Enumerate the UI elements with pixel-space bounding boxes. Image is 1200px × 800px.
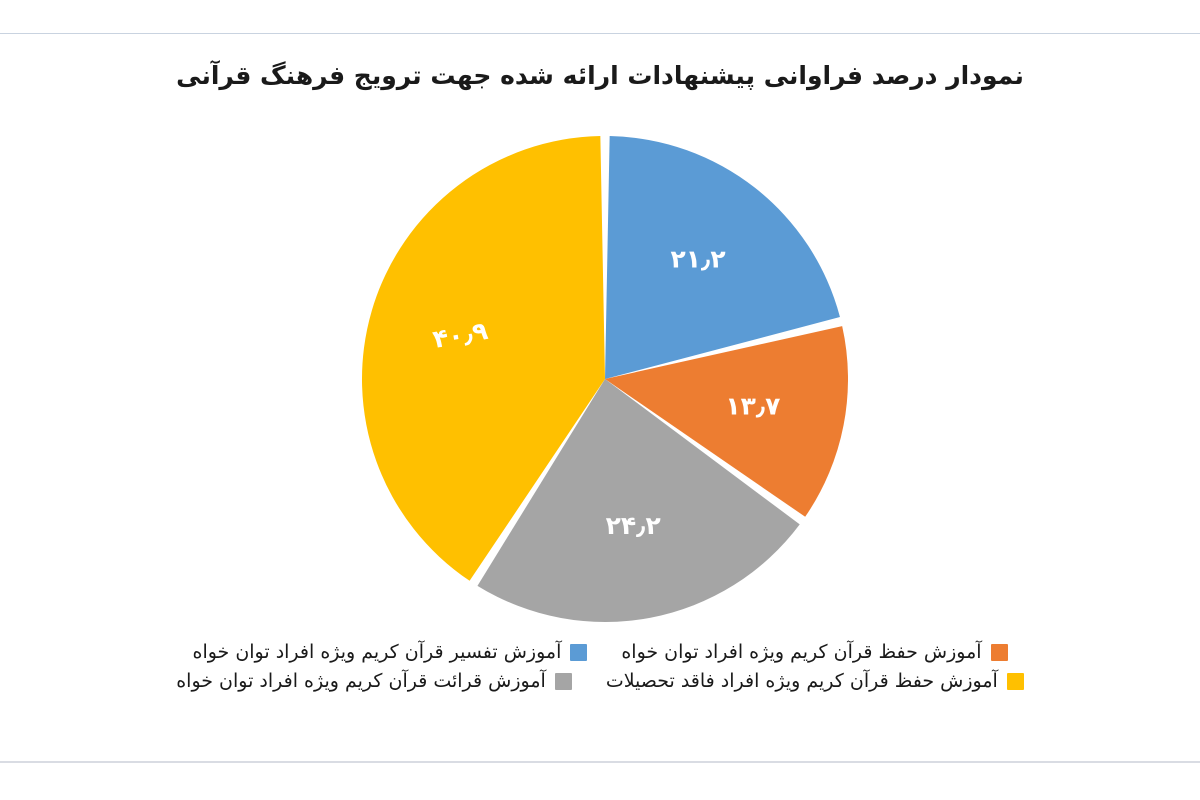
legend-color-swatch — [991, 644, 1008, 661]
legend-color-swatch — [1007, 673, 1024, 690]
pie-slice-value-label: ۲۱٫۲ — [671, 245, 726, 274]
chart-legend: آموزش حفظ قرآن کریم ویژه افراد توان خواه… — [0, 642, 1200, 692]
legend-color-swatch — [555, 673, 572, 690]
pie-graphic: ۲۱٫۲۱۳٫۷۲۴٫۲۴۰٫۹ — [355, 129, 855, 629]
pie-slice-value-label: ۲۴٫۲ — [606, 511, 661, 540]
legend-row: آموزش حفظ قرآن کریم ویژه افراد فاقد تحصی… — [176, 671, 1024, 692]
legend-color-swatch — [570, 644, 587, 661]
legend-item-gheraat-tavankhah[interactable]: آموزش قرائت قرآن کریم ویژه افراد توان خو… — [176, 671, 572, 692]
chart-page: نمودار درصد فراوانی پیشنهادات ارائه شده … — [0, 0, 1200, 800]
legend-item-hefz-faghed-tahsilat[interactable]: آموزش حفظ قرآن کریم ویژه افراد فاقد تحصی… — [606, 671, 1024, 692]
legend-item-hefz-tavankhah[interactable]: آموزش حفظ قرآن کریم ویژه افراد توان خواه — [621, 642, 1007, 663]
pie-slice-value-label: ۱۳٫۷ — [725, 392, 780, 421]
legend-item-tafsir-tavankhah[interactable]: آموزش تفسیر قرآن کریم ویژه افراد توان خو… — [192, 642, 587, 663]
legend-row: آموزش حفظ قرآن کریم ویژه افراد توان خواه… — [192, 642, 1007, 663]
pie-slice-group — [362, 136, 848, 622]
legend-label: آموزش حفظ قرآن کریم ویژه افراد فاقد تحصی… — [606, 671, 998, 692]
pie-chart-container: نمودار درصد فراوانی پیشنهادات ارائه شده … — [0, 34, 1200, 761]
legend-label: آموزش قرائت قرآن کریم ویژه افراد توان خو… — [176, 671, 546, 692]
legend-label: آموزش حفظ قرآن کریم ویژه افراد توان خواه — [621, 642, 981, 663]
bottom-divider-rule — [0, 761, 1200, 763]
chart-title: نمودار درصد فراوانی پیشنهادات ارائه شده … — [0, 61, 1200, 90]
legend-label: آموزش تفسیر قرآن کریم ویژه افراد توان خو… — [192, 642, 561, 663]
pie-svg: ۲۱٫۲۱۳٫۷۲۴٫۲۴۰٫۹ — [355, 129, 855, 629]
